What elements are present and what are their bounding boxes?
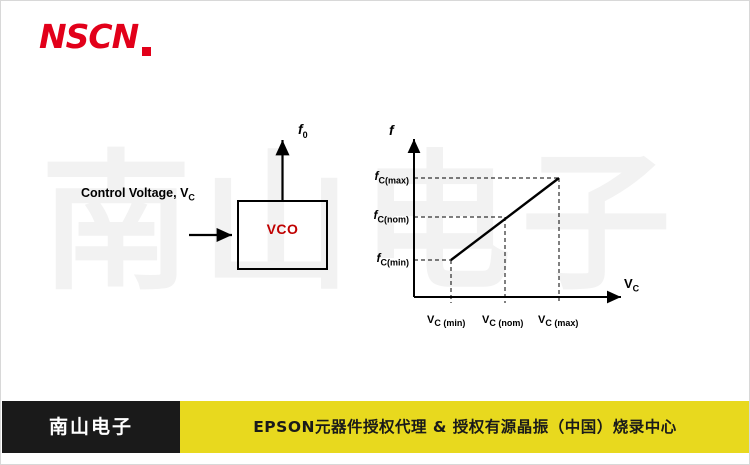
- x-tick-vcmax: VC (max): [538, 314, 578, 328]
- control-voltage-label-sub: C: [188, 193, 195, 203]
- output-frequency-label: f0: [298, 121, 308, 140]
- control-voltage-label: Control Voltage, VC: [81, 186, 195, 203]
- footer-banner-text: EPSON元器件授权代理 & 授权有源晶振（中国）烧录中心: [180, 401, 750, 453]
- graph-x-axis-label-main: V: [624, 276, 633, 291]
- vco-block-label: VCO: [237, 221, 328, 237]
- page-container: 南山电子 NSCN: [0, 0, 750, 465]
- graph-x-axis-label-sub: C: [633, 284, 640, 294]
- y-tick-fmax: fC(max): [349, 169, 409, 185]
- diagram-vector-layer: [1, 1, 750, 465]
- y-tick-fmin-sub: C(min): [381, 257, 410, 267]
- graph-x-axis-label: VC: [624, 276, 639, 294]
- x-tick-vcnom: VC (nom): [482, 314, 523, 328]
- x-tick-vcmin-sub: C (min): [434, 318, 465, 328]
- graph-y-axis-label: f: [389, 122, 394, 138]
- y-tick-fmin: fC(min): [349, 251, 409, 267]
- x-tick-vcmax-sub: C (max): [545, 318, 578, 328]
- x-tick-vcnom-sub: C (nom): [489, 318, 523, 328]
- nscn-logo: NSCN: [39, 17, 169, 57]
- footer-brand-block: 南山电子: [2, 401, 180, 453]
- y-tick-fnom: fC(nom): [349, 208, 409, 224]
- y-tick-fnom-sub: C(nom): [378, 214, 410, 224]
- logo-square-mark: [142, 47, 151, 56]
- control-voltage-label-main: Control Voltage, V: [81, 186, 188, 200]
- footer-banner-block: EPSON元器件授权代理 & 授权有源晶振（中国）烧录中心: [180, 401, 750, 453]
- output-frequency-label-sub: 0: [303, 130, 308, 140]
- vco-diagram: VCO Control Voltage, VC f0 f VC fC(max) …: [1, 1, 750, 465]
- logo-text: NSCN: [39, 17, 138, 57]
- y-tick-fmax-sub: C(max): [378, 175, 409, 185]
- footer-brand-text: 南山电子: [2, 401, 180, 453]
- x-tick-vcmin: VC (min): [427, 314, 465, 328]
